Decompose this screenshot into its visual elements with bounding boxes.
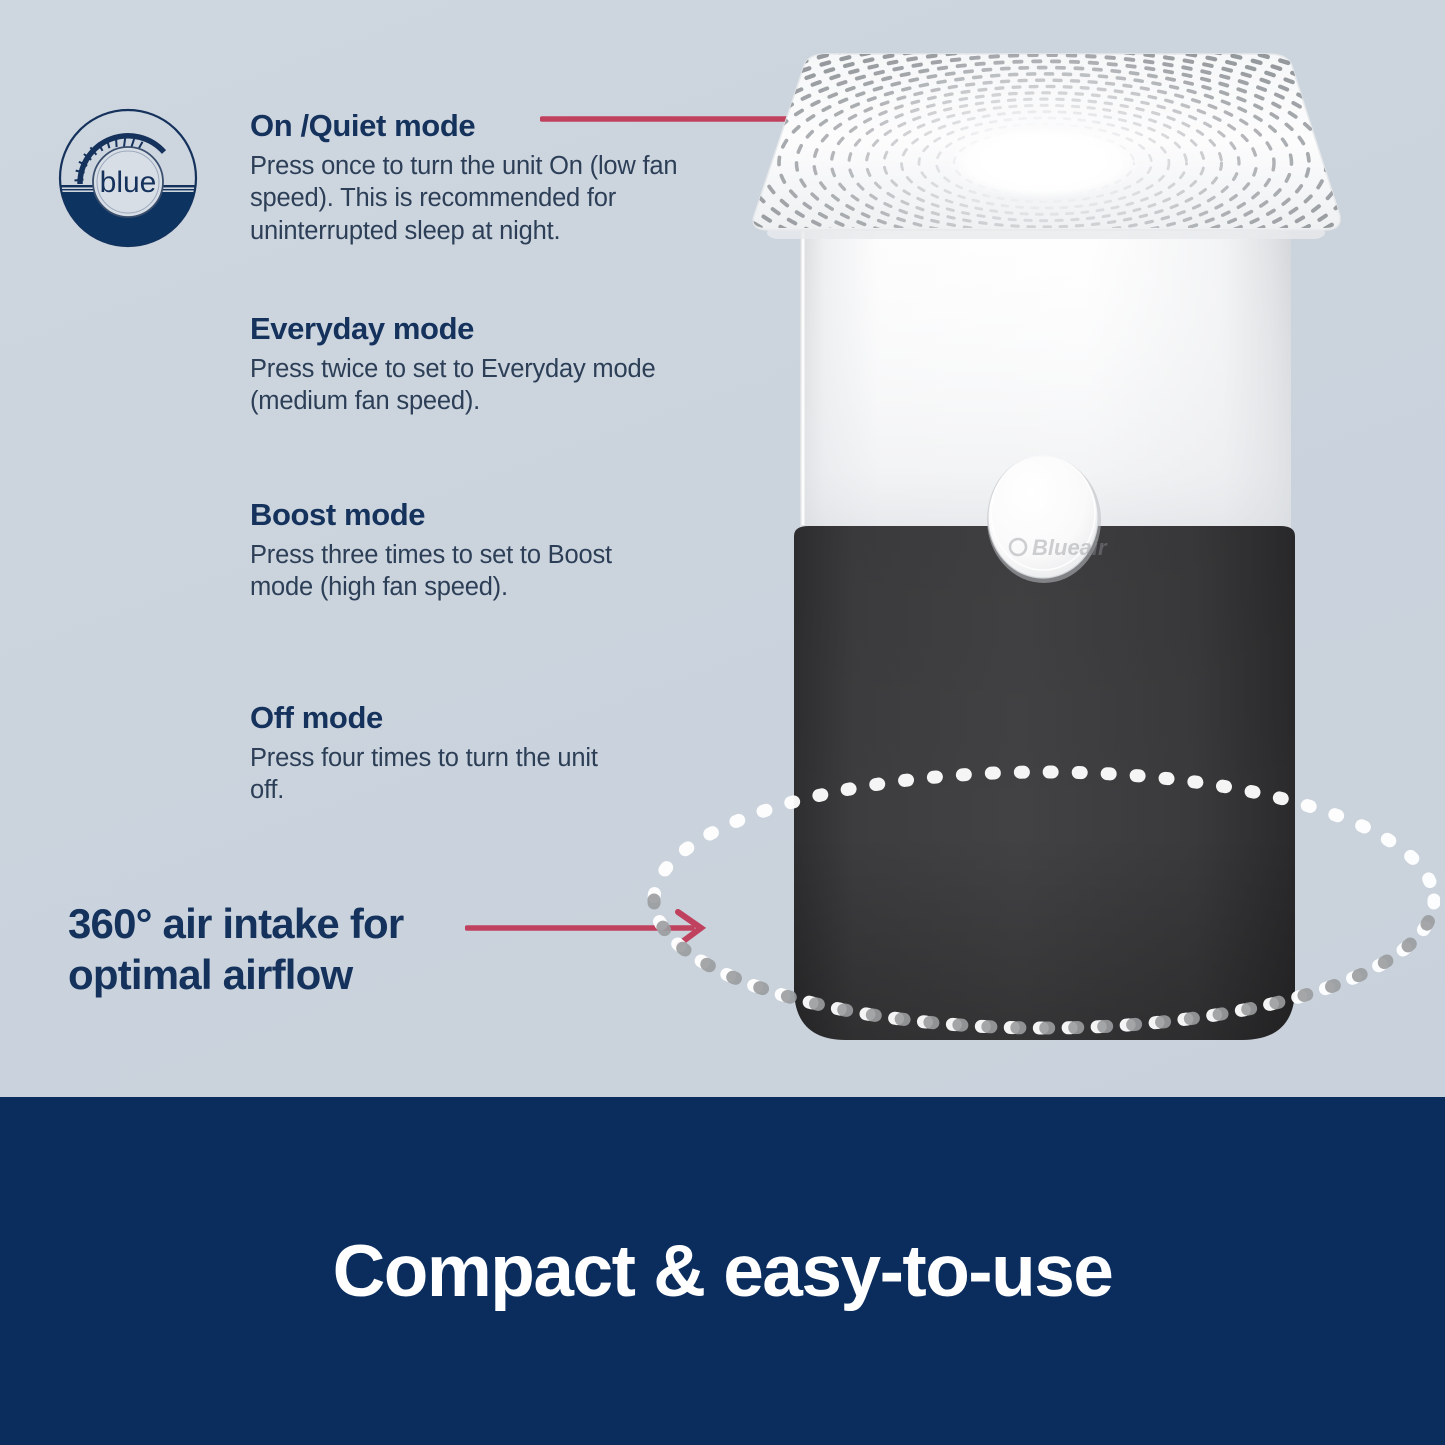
- callout-body-off-mode: Press four times to turn the unit off.: [250, 742, 610, 807]
- banner-title: Compact & easy-to-use: [333, 1235, 1113, 1308]
- top-light-core: [982, 140, 1106, 186]
- blue-wordmark: blue: [100, 166, 157, 199]
- infographic-page: blue On /Quiet mode Press once to turn t…: [0, 0, 1445, 1445]
- callout-title-boost-mode: Boost mode: [250, 499, 650, 532]
- blueair-wordmark: Blueair: [1032, 535, 1108, 560]
- headline-360-line2: optimal airflow: [68, 949, 488, 1000]
- blue-logo-badge: blue: [56, 106, 200, 250]
- headline-360-air-intake: 360° air intake for optimal airflow: [68, 898, 488, 1000]
- callout-off-mode: Off mode Press four times to turn the un…: [250, 702, 610, 807]
- callout-body-everyday-mode: Press twice to set to Everyday mode (med…: [250, 353, 680, 418]
- headline-360-line1: 360° air intake for: [68, 898, 488, 949]
- callout-title-off-mode: Off mode: [250, 702, 610, 735]
- blueair-air-purifier: Blueair: [640, 20, 1440, 1080]
- callout-everyday-mode: Everyday mode Press twice to set to Ever…: [250, 313, 680, 418]
- callout-body-boost-mode: Press three times to set to Boost mode (…: [250, 539, 650, 604]
- product-svg: Blueair: [640, 20, 1440, 1080]
- bottom-banner: Compact & easy-to-use: [0, 1097, 1445, 1445]
- callout-title-everyday-mode: Everyday mode: [250, 313, 680, 346]
- callout-boost-mode: Boost mode Press three times to set to B…: [250, 499, 650, 604]
- blue-logo-svg: blue: [56, 106, 200, 250]
